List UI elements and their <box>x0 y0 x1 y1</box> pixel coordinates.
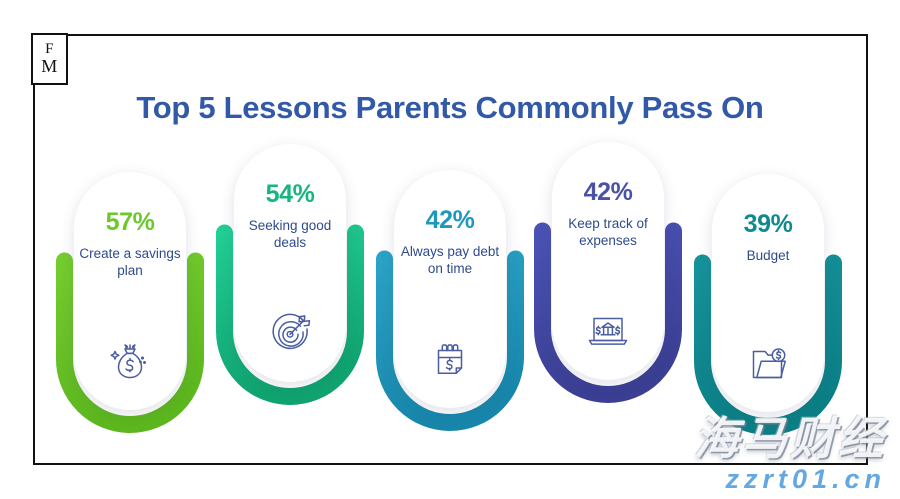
folder-coin-icon <box>712 338 824 386</box>
card-percent-5: 39% <box>744 210 793 239</box>
card-label-4: Keep track of expenses <box>552 216 664 250</box>
watermark-url-text: zzrt01.cn <box>694 464 886 495</box>
card-label-5: Budget <box>742 248 795 265</box>
card-inner-2: 54%Seeking good deals <box>234 144 346 382</box>
target-icon <box>234 308 346 356</box>
fm-logo: F M <box>31 33 68 85</box>
card-inner-3: 42%Always pay debt on time <box>394 170 506 408</box>
lesson-cards-row: 57%Create a savings plan 54%Se <box>55 150 855 450</box>
laptop-bank-icon <box>552 306 664 354</box>
card-percent-1: 57% <box>106 208 155 237</box>
logo-letter-f: F <box>45 42 54 58</box>
card-percent-4: 42% <box>584 178 633 207</box>
card-inner-1: 57%Create a savings plan <box>74 172 186 410</box>
money-bag-icon <box>74 336 186 384</box>
lesson-card-5[interactable]: 39%Budget <box>693 186 843 436</box>
calendar-dollar-icon <box>394 334 506 382</box>
card-percent-3: 42% <box>426 206 475 235</box>
card-label-3: Always pay debt on time <box>394 244 506 278</box>
lesson-card-1[interactable]: 57%Create a savings plan <box>55 184 205 434</box>
lesson-card-2[interactable]: 54%Seeking good deals <box>215 156 365 406</box>
lesson-card-4[interactable]: 42%Keep track of expenses <box>533 154 683 404</box>
card-label-1: Create a savings plan <box>74 246 186 280</box>
card-label-2: Seeking good deals <box>234 218 346 252</box>
card-inner-4: 42%Keep track of expenses <box>552 142 664 380</box>
lesson-card-3[interactable]: 42%Always pay debt on time <box>375 182 525 432</box>
card-inner-5: 39%Budget <box>712 174 824 412</box>
page-title: Top 5 Lessons Parents Commonly Pass On <box>0 90 900 126</box>
card-percent-2: 54% <box>266 180 315 209</box>
logo-letter-m: M <box>41 57 58 76</box>
